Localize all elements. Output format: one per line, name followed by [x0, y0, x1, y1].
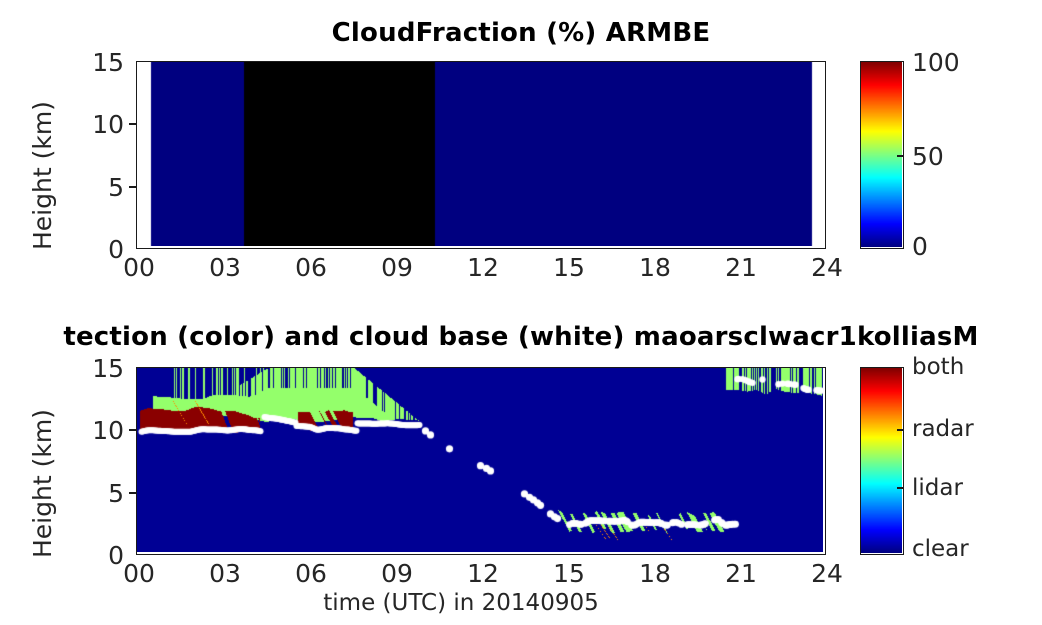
- x-tick-top-06: 06: [284, 253, 338, 282]
- x-tick-bottom-00: 00: [112, 559, 166, 588]
- x-tick-bottom-24: 24: [800, 559, 854, 588]
- x-tick-bottom-09: 09: [370, 559, 424, 588]
- x-tick-top-12: 12: [456, 253, 510, 282]
- x-tick-top-21: 21: [714, 253, 768, 282]
- colorbar-label-both: both: [912, 354, 964, 380]
- x-tick-bottom-12: 12: [456, 559, 510, 588]
- colorbar-label-clear: clear: [912, 536, 969, 562]
- x-axis-label: time (UTC) in 20140905: [256, 590, 666, 616]
- x-tick-top-18: 18: [628, 253, 682, 282]
- x-tick-top-09: 09: [370, 253, 424, 282]
- x-tick-bottom-03: 03: [198, 559, 252, 588]
- colorbar-cloud-detection: [860, 367, 904, 555]
- colorbar-label-50: 50: [912, 142, 944, 171]
- x-tick-bottom-06: 06: [284, 559, 338, 588]
- y-tick-top-15: 15: [78, 48, 124, 77]
- x-tick-top-24: 24: [800, 253, 854, 282]
- page-subtitle: tection (color) and cloud base (white) m…: [0, 322, 1042, 352]
- colorbar-label-lidar: lidar: [912, 475, 963, 501]
- colorbar-tickmark-radar: [897, 429, 904, 431]
- panel-cloud-fraction: CloudFraction (%) ARMBE Height (km) 15 1…: [0, 0, 1042, 310]
- x-tick-top-03: 03: [198, 253, 252, 282]
- x-tick-top-15: 15: [542, 253, 596, 282]
- y-tick-bottom-10: 10: [78, 416, 124, 445]
- x-tick-top-00: 00: [112, 253, 166, 282]
- plot-area-cloud-fraction: [136, 61, 826, 249]
- y-tick-bottom-5: 5: [78, 479, 124, 508]
- panel-cloud-detection: tection (color) and cloud base (white) m…: [0, 310, 1042, 625]
- page-title: CloudFraction (%) ARMBE: [0, 18, 1042, 48]
- plot-area-cloud-detection: [136, 367, 826, 555]
- y-axis-label-bottom: Height (km): [28, 409, 57, 558]
- colorbar-tickmark-50: [897, 155, 904, 157]
- colorbar-tickmark-lidar: [897, 487, 904, 489]
- colorbar-label-radar: radar: [912, 416, 974, 442]
- y-tick-top-10: 10: [78, 110, 124, 139]
- y-tick-bottom-15: 15: [78, 354, 124, 383]
- x-tick-bottom-15: 15: [542, 559, 596, 588]
- colorbar-label-0: 0: [912, 232, 928, 261]
- x-tick-bottom-21: 21: [714, 559, 768, 588]
- x-tick-bottom-18: 18: [628, 559, 682, 588]
- y-axis-label-top: Height (km): [28, 101, 57, 250]
- colorbar-label-100: 100: [912, 48, 960, 77]
- y-tick-top-5: 5: [78, 173, 124, 202]
